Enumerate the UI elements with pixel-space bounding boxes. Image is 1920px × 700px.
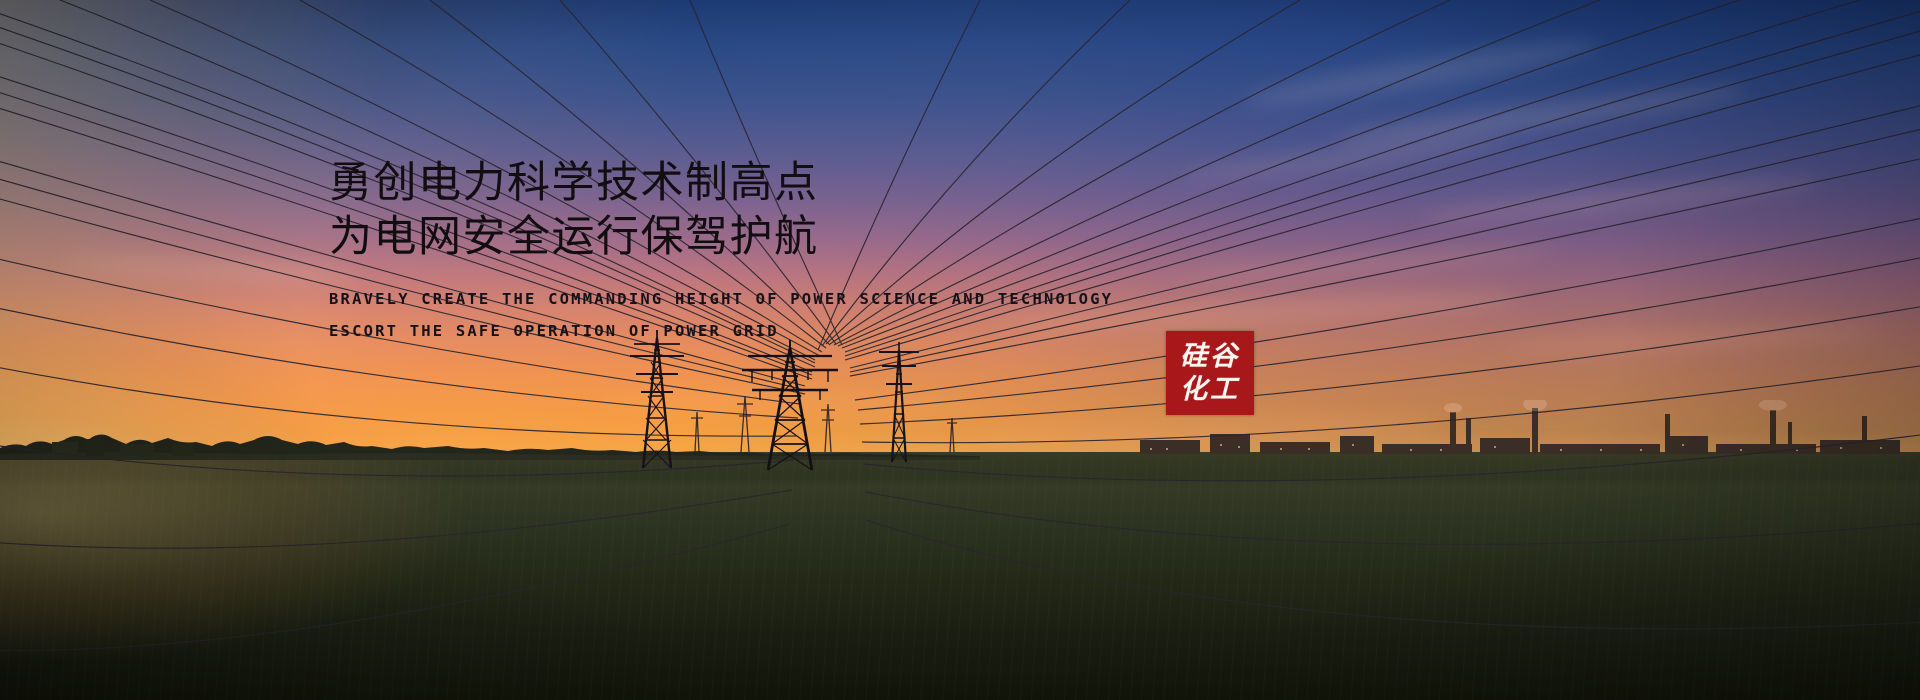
headline-line-2: 为电网安全运行保驾护航 xyxy=(329,210,1229,264)
headline-line-1: 勇创电力科学技术制高点 xyxy=(329,156,1229,210)
power-lines-and-towers xyxy=(0,0,1920,700)
subtitle-line-1: BRAVELY CREATE THE COMMANDING HEIGHT OF … xyxy=(329,283,1229,315)
seal-line-2: 化工 xyxy=(1180,373,1240,406)
hero-banner: 勇创电力科学技术制高点 为电网安全运行保驾护航 BRAVELY CREATE T… xyxy=(0,0,1920,700)
subtitle-line-2: ESCORT THE SAFE OPERATION OF POWER GRID xyxy=(329,315,1229,347)
seal-line-1: 硅谷 xyxy=(1180,340,1240,373)
company-seal-logo: 硅谷 化工 xyxy=(1166,331,1254,415)
banner-copy: 勇创电力科学技术制高点 为电网安全运行保驾护航 BRAVELY CREATE T… xyxy=(329,156,1229,347)
